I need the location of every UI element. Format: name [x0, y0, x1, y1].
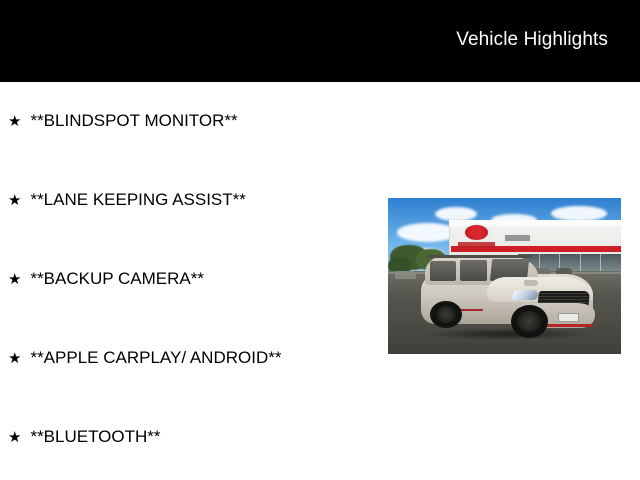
- highlight-label: **BACKUP CAMERA**: [30, 270, 204, 289]
- page-title: Vehicle Highlights: [456, 29, 608, 51]
- star-icon: ★: [8, 272, 21, 287]
- list-item: ★ **APPLE CARPLAY/ ANDROID**: [8, 349, 281, 368]
- subaru-forester: [409, 245, 605, 342]
- vehicle-window: [460, 260, 487, 280]
- content-area: ★ **BLINDSPOT MONITOR** ★ **LANE KEEPING…: [0, 82, 640, 480]
- highlight-label: **BLUETOOTH**: [30, 428, 160, 447]
- front-wheel: [511, 305, 548, 338]
- vehicle-window: [430, 261, 455, 280]
- rear-wheel: [430, 301, 461, 328]
- headlight: [511, 290, 539, 300]
- list-item: ★ **LANE KEEPING ASSIST**: [8, 191, 246, 210]
- star-icon: ★: [8, 193, 21, 208]
- highlight-label: **BLINDSPOT MONITOR**: [30, 112, 237, 131]
- header-bar: Vehicle Highlights: [0, 0, 640, 82]
- toyota-logo-icon: [465, 225, 488, 241]
- list-item: ★ **BLUETOOTH**: [8, 428, 161, 447]
- capitol-sign: [505, 235, 531, 240]
- list-item: ★ **BACKUP CAMERA**: [8, 270, 204, 289]
- highlight-label: **LANE KEEPING ASSIST**: [30, 191, 245, 210]
- star-icon: ★: [8, 351, 21, 366]
- side-mirror: [524, 280, 538, 287]
- star-icon: ★: [8, 430, 21, 445]
- vehicle-photo: [388, 198, 621, 354]
- vehicle-shadow: [425, 328, 589, 340]
- list-item: ★ **BLINDSPOT MONITOR**: [8, 112, 238, 131]
- star-icon: ★: [8, 114, 21, 129]
- license-plate: [558, 313, 580, 323]
- roof-rail: [427, 255, 533, 258]
- highlight-label: **APPLE CARPLAY/ ANDROID**: [30, 349, 281, 368]
- photo-scene: [388, 198, 621, 354]
